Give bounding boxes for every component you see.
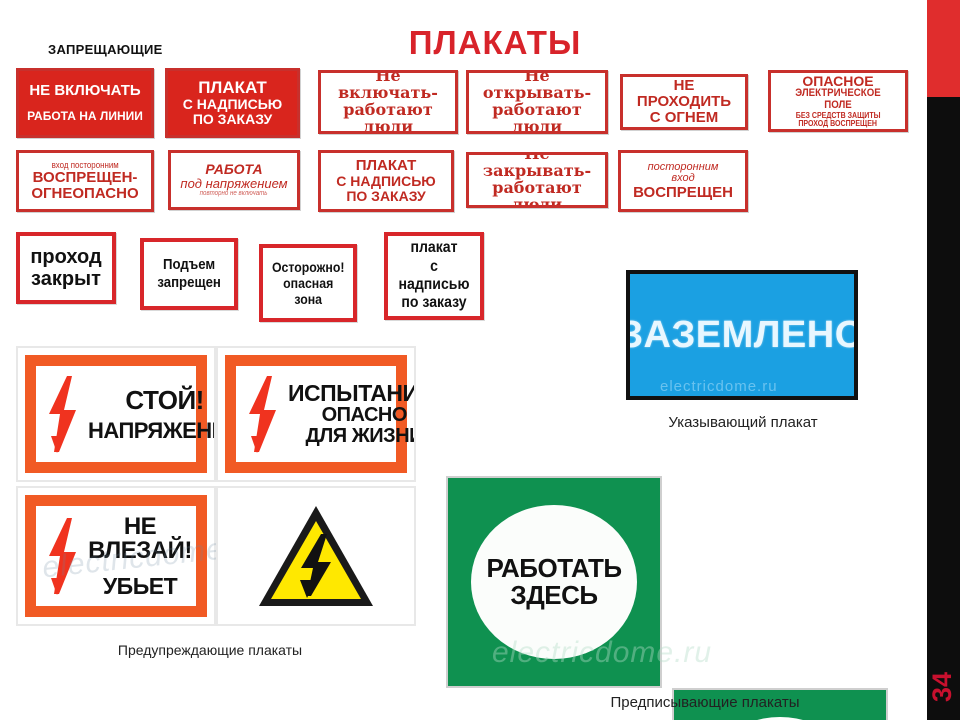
sign-stoy-napryazhenie[interactable]: СТОЙ! НАПРЯЖЕНИЕ [16, 346, 216, 482]
sign-podem-zapreshchen[interactable]: Подъем запрещен [140, 238, 238, 310]
sign-ne-otkryvat-rabotayut-ludi[interactable]: Не открывать- работают люди [466, 70, 608, 134]
sign-electrical-hazard-triangle[interactable] [216, 486, 416, 626]
sign-line: РАБОТА [205, 162, 262, 177]
sign-ostorozhno-opasnaya-zona[interactable]: Осторожно! опасная зона [259, 244, 357, 322]
sign-line: под напряжением [180, 177, 287, 191]
sign-line: Не включать- [323, 70, 453, 102]
sign-line: НЕ ПРОХОДИТЬ [625, 78, 743, 110]
sign-line: зона [272, 291, 345, 307]
sign-line: ИСПЫТАНИЕ! [288, 381, 416, 405]
sign-line: Осторожно! [272, 259, 345, 275]
sign-line: закрыт [30, 268, 101, 290]
sign-ne-vlezay-ubet[interactable]: НЕ ВЛЕЗАЙ! УБЬЕТ [16, 486, 216, 626]
sign-line: Подъем [157, 256, 221, 274]
sign-line: НАПРЯЖЕНИЕ [88, 420, 216, 442]
sign-ne-prohodit-s-ognem[interactable]: НЕ ПРОХОДИТЬ С ОГНЕМ [620, 74, 748, 130]
sign-line: Не открывать- [471, 70, 603, 102]
sign-line: опасная [272, 275, 345, 291]
sign-line: Не закрывать- [471, 152, 603, 180]
sign-plakat-s-nadpisyu-po-zakazu-red[interactable]: ПЛАКАТ С НАДПИСЬЮ ПО ЗАКАЗУ [165, 68, 300, 138]
slide-canvas: 34 ПЛАКАТЫ ЗАПРЕЩАЮЩИЕ НЕ ВКЛЮЧАТЬ РАБОТ… [0, 0, 960, 720]
sign-line: СТОЙ! [88, 387, 216, 413]
sign-line: ПРОХОД ВОСПРЕЩЕН [799, 120, 878, 128]
edge-accent-black [927, 97, 960, 720]
edge-accent-red [927, 0, 960, 97]
sign-line: проход [30, 246, 101, 268]
sign-line: ПЛАКАТ [198, 79, 267, 97]
sign-line: С НАДПИСЬЮ [336, 174, 435, 189]
sign-rabota-pod-napryazheniem[interactable]: РАБОТА под напряжением повторно не включ… [168, 150, 300, 210]
page-title: ПЛАКАТЫ [330, 24, 660, 62]
sign-line: РАБОТА НА ЛИНИИ [27, 110, 143, 123]
sign-line: запрещен [157, 274, 221, 292]
lightning-bolt-icon [36, 516, 88, 596]
sign-line: ПО ЗАКАЗУ [193, 112, 272, 127]
sign-plakat-s-nadpisyu-po-zakazu-black[interactable]: плакат с надписью по заказу [384, 232, 484, 320]
sign-line: РАБОТАТЬ [486, 555, 621, 582]
sign-ne-vkluchat-rabota-na-linii[interactable]: НЕ ВКЛЮЧАТЬ РАБОТА НА ЛИНИИ [16, 68, 154, 138]
sign-line: НЕ ВЛЕЗАЙ! [88, 515, 192, 563]
sign-ispytanie-opasno-dlya-zhizni[interactable]: ИСПЫТАНИЕ! ОПАСНО ДЛЯ ЖИЗНИ [216, 346, 416, 482]
sign-line: ЭЛЕКТРИЧЕСКОЕ ПОЛЕ [781, 88, 895, 111]
sign-line: по заказу [394, 294, 475, 312]
sign-line: ПЛАКАТ [356, 158, 417, 174]
lightning-bolt-icon [36, 374, 88, 454]
sign-line: ЗДЕСЬ [510, 582, 597, 609]
sign-plakat-s-nadpisyu-po-zakazu-white[interactable]: ПЛАКАТ С НАДПИСЬЮ ПО ЗАКАЗУ [318, 150, 454, 212]
page-number: 34 [927, 672, 960, 702]
sign-zazemleno[interactable]: ЗАЗЕМЛЕНО [626, 270, 858, 400]
sign-ne-vkluchat-rabotayut-ludi[interactable]: Не включать- работают люди [318, 70, 458, 134]
caption-indicating-poster: Указывающий плакат [620, 414, 866, 431]
sign-vhod-postoronnim-vospreshchen-ogneopasno[interactable]: вход посторонним ВОСПРЕЩЕН- ОГНЕОПАСНО [16, 150, 154, 212]
sign-line: повторно не включать [200, 190, 268, 197]
sign-line: ОГНЕОПАСНО [31, 186, 138, 202]
sign-ne-zakryvat-rabotayut-ludi[interactable]: Не закрывать- работают люди [466, 152, 608, 208]
sign-line: С ОГНЕМ [650, 110, 719, 126]
lightning-bolt-icon [236, 374, 288, 454]
sign-line: вход посторонним [51, 161, 118, 170]
sign-line: работают люди [323, 102, 453, 134]
sign-line: С НАДПИСЬЮ [183, 97, 282, 112]
sign-line: плакат [394, 239, 475, 257]
section-label-prohibitive: ЗАПРЕЩАЮЩИЕ [48, 42, 163, 57]
sign-line: ДЛЯ ЖИЗНИ [288, 426, 416, 447]
sign-line: работают люди [471, 102, 603, 134]
sign-line: ОПАСНО [288, 405, 416, 426]
sign-opasnoe-elektricheskoe-pole[interactable]: ОПАСНОЕ ЭЛЕКТРИЧЕСКОЕ ПОЛЕ БЕЗ СРЕДСТВ З… [768, 70, 908, 132]
sign-line: УБЬЕТ [88, 575, 192, 598]
sign-line: вход [671, 173, 694, 185]
sign-line: с надписью [394, 258, 475, 295]
warning-triangle-lightning-icon [255, 502, 377, 610]
caption-warning-posters: Предупреждающие плакаты [60, 642, 360, 658]
sign-line: ЗАЗЕМЛЕНО [626, 314, 858, 357]
sign-rabotat-zdes[interactable]: РАБОТАТЬ ЗДЕСЬ [446, 476, 662, 688]
sign-line: ВОСПРЕЩЕН- [33, 170, 138, 186]
sign-line: работают люди [471, 180, 603, 208]
sign-prohod-zakryt[interactable]: проход закрыт [16, 232, 116, 304]
sign-line: ПО ЗАКАЗУ [346, 189, 425, 204]
sign-line: ВОСПРЕЩЕН [633, 185, 733, 201]
sign-postoronnim-vhod-vospreshchen[interactable]: посторонним вход ВОСПРЕЩЕН [618, 150, 748, 212]
sign-line: НЕ ВКЛЮЧАТЬ [29, 83, 140, 99]
caption-prescriptive-posters: Предписывающие плакаты [540, 694, 870, 711]
sign-line: ОПАСНОЕ [802, 74, 873, 89]
